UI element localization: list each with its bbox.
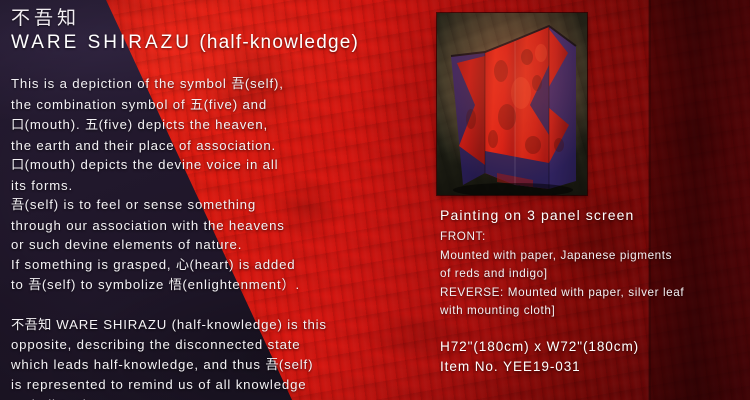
- cjk-glyph: 吾: [231, 77, 245, 92]
- description-line: is represented to remind us of all knowl…: [11, 375, 426, 395]
- description-line: and all truth.: [11, 395, 426, 400]
- title-romaji-paren: (half-knowledge): [199, 32, 359, 53]
- text-run: or such devine elements of nature.: [11, 237, 242, 252]
- front-detail-line-2: of reds and indigo]: [440, 265, 740, 284]
- description-line: the combination symbol of 五(five) and: [11, 95, 426, 116]
- text-run: (mouth).: [25, 117, 85, 132]
- text-run: opposite, describing the disconnected st…: [11, 337, 300, 352]
- text-run: (five) and: [204, 97, 267, 112]
- front-detail-line-1: Mounted with paper, Japanese pigments: [440, 247, 740, 266]
- text-run: which leads half-knowledge, and thus: [11, 357, 265, 372]
- cjk-glyph: 五: [190, 98, 204, 113]
- description-column: 不吾知 WARE SHIRAZU (half-knowledge) This i…: [11, 6, 426, 400]
- description-line: 口(mouth). 五(five) depicts the heaven,: [11, 115, 426, 136]
- description-line: opposite, describing the disconnected st…: [11, 335, 426, 355]
- description-line: 口(mouth) depicts the devine voice in all: [11, 155, 426, 176]
- cjk-glyph: 吾: [265, 358, 279, 373]
- text-run: (self),: [245, 76, 284, 91]
- spec-spacer: [440, 321, 740, 337]
- text-run: (five) depicts the heaven,: [99, 117, 268, 132]
- text-run: the earth and their place of association…: [11, 138, 276, 153]
- text-run: (enlightenment）.: [182, 277, 300, 292]
- dimensions-text: H72"(180cm) x W72"(180cm): [440, 337, 740, 357]
- text-run: to: [11, 277, 28, 292]
- text-run: through our association with the heavens: [11, 218, 285, 233]
- description-line: through our association with the heavens: [11, 216, 426, 236]
- description-line: This is a depiction of the symbol 吾(self…: [11, 74, 426, 95]
- description-line: or such devine elements of nature.: [11, 235, 426, 255]
- cjk-glyph: 心: [176, 258, 190, 273]
- artwork-photo[interactable]: [437, 13, 587, 195]
- description-line: which leads half-knowledge, and thus 吾(s…: [11, 355, 426, 376]
- description-paragraph-2: 不吾知 WARE SHIRAZU (half-knowledge) is thi…: [11, 315, 426, 400]
- reverse-detail-line-2: with mounting cloth]: [440, 302, 740, 321]
- text-run: If something is grasped,: [11, 257, 176, 272]
- text-run: (self) to symbolize: [42, 277, 169, 292]
- cjk-glyph: 悟: [169, 278, 183, 293]
- reverse-detail-line-1: REVERSE: Mounted with paper, silver leaf: [440, 284, 740, 303]
- specifications-column: Painting on 3 panel screen FRONT: Mounte…: [440, 205, 740, 377]
- item-number-text: Item No. YEE19-031: [440, 357, 740, 377]
- text-run: (self) is to feel or sense something: [25, 197, 256, 212]
- title-cjk: 不吾知: [11, 6, 426, 30]
- description-line: 吾(self) is to feel or sense something: [11, 195, 426, 216]
- text-run: WARE SHIRAZU (half-knowledge) is this: [52, 317, 327, 332]
- text-run: the combination symbol of: [11, 97, 190, 112]
- text-run: is represented to remind us of all knowl…: [11, 377, 306, 392]
- title-romaji-main: WARE SHIRAZU: [11, 32, 192, 53]
- description-paragraph-1: This is a depiction of the symbol 吾(self…: [11, 74, 426, 296]
- text-run: its forms.: [11, 178, 73, 193]
- cjk-glyph: 五: [85, 118, 99, 133]
- description-line: to 吾(self) to symbolize 悟(enlightenment）…: [11, 275, 426, 296]
- description-line: the earth and their place of association…: [11, 136, 426, 156]
- text-run: (heart) is added: [190, 257, 296, 272]
- cjk-glyph: 口: [11, 118, 25, 133]
- title-romaji: WARE SHIRAZU (half-knowledge): [11, 31, 426, 55]
- folding-screen-illustration: [437, 13, 587, 195]
- cjk-glyph: 吾: [28, 278, 42, 293]
- front-label: FRONT:: [440, 228, 740, 247]
- description-line: If something is grasped, 心(heart) is add…: [11, 255, 426, 276]
- cjk-glyph: 吾: [11, 198, 25, 213]
- medium-heading: Painting on 3 panel screen: [440, 205, 740, 226]
- text-run: (mouth) depicts the devine voice in all: [25, 157, 279, 172]
- text-run: and all truth.: [11, 397, 95, 400]
- cjk-glyph: 口: [11, 158, 25, 173]
- text-run: (self): [279, 357, 313, 372]
- description-line: its forms.: [11, 176, 426, 196]
- cjk-glyph: 不吾知: [11, 318, 52, 333]
- artwork-info-card: 不吾知 WARE SHIRAZU (half-knowledge) This i…: [0, 0, 750, 400]
- text-run: This is a depiction of the symbol: [11, 76, 231, 91]
- description-line: 不吾知 WARE SHIRAZU (half-knowledge) is thi…: [11, 315, 426, 336]
